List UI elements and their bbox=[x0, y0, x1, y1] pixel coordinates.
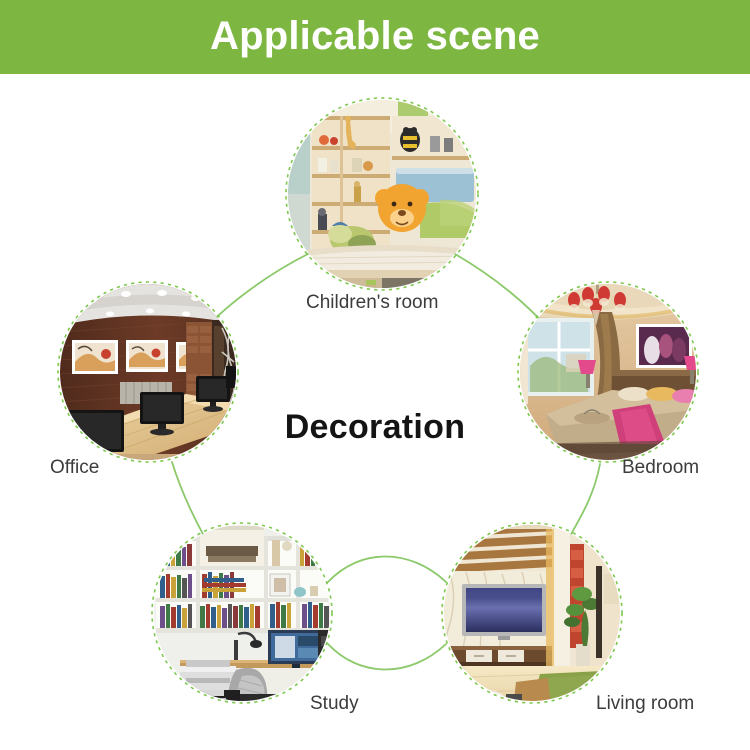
study-photo bbox=[152, 523, 338, 718]
caption-children-room: Children's room bbox=[306, 293, 438, 312]
caption-office: Office bbox=[50, 458, 99, 477]
node-living-room[interactable] bbox=[442, 523, 622, 718]
caption-study: Study bbox=[310, 694, 359, 713]
caption-living-room: Living room bbox=[596, 694, 694, 713]
office-photo bbox=[58, 282, 238, 468]
node-study[interactable] bbox=[152, 523, 338, 718]
caption-bedroom: Bedroom bbox=[622, 458, 699, 477]
connector-bedroom-living bbox=[570, 464, 600, 536]
node-bedroom[interactable] bbox=[518, 282, 700, 464]
connector-office-children bbox=[206, 254, 308, 328]
connector-living-study bbox=[328, 557, 446, 583]
node-office[interactable] bbox=[58, 282, 238, 468]
header-banner: Applicable scene bbox=[0, 0, 750, 74]
living-room-photo bbox=[442, 523, 622, 718]
page-title: Applicable scene bbox=[210, 16, 540, 56]
connector-living-study-lower bbox=[328, 644, 446, 670]
connector-study-office bbox=[172, 462, 204, 536]
node-children-room[interactable] bbox=[286, 98, 478, 292]
connector-children-bedroom bbox=[455, 254, 546, 326]
applicable-scene-infographic: Applicable scene bbox=[0, 0, 750, 750]
diagram-stage: Decoration Children's room Bedroom Livin… bbox=[0, 74, 750, 750]
scene-diagram-svg bbox=[0, 74, 750, 750]
